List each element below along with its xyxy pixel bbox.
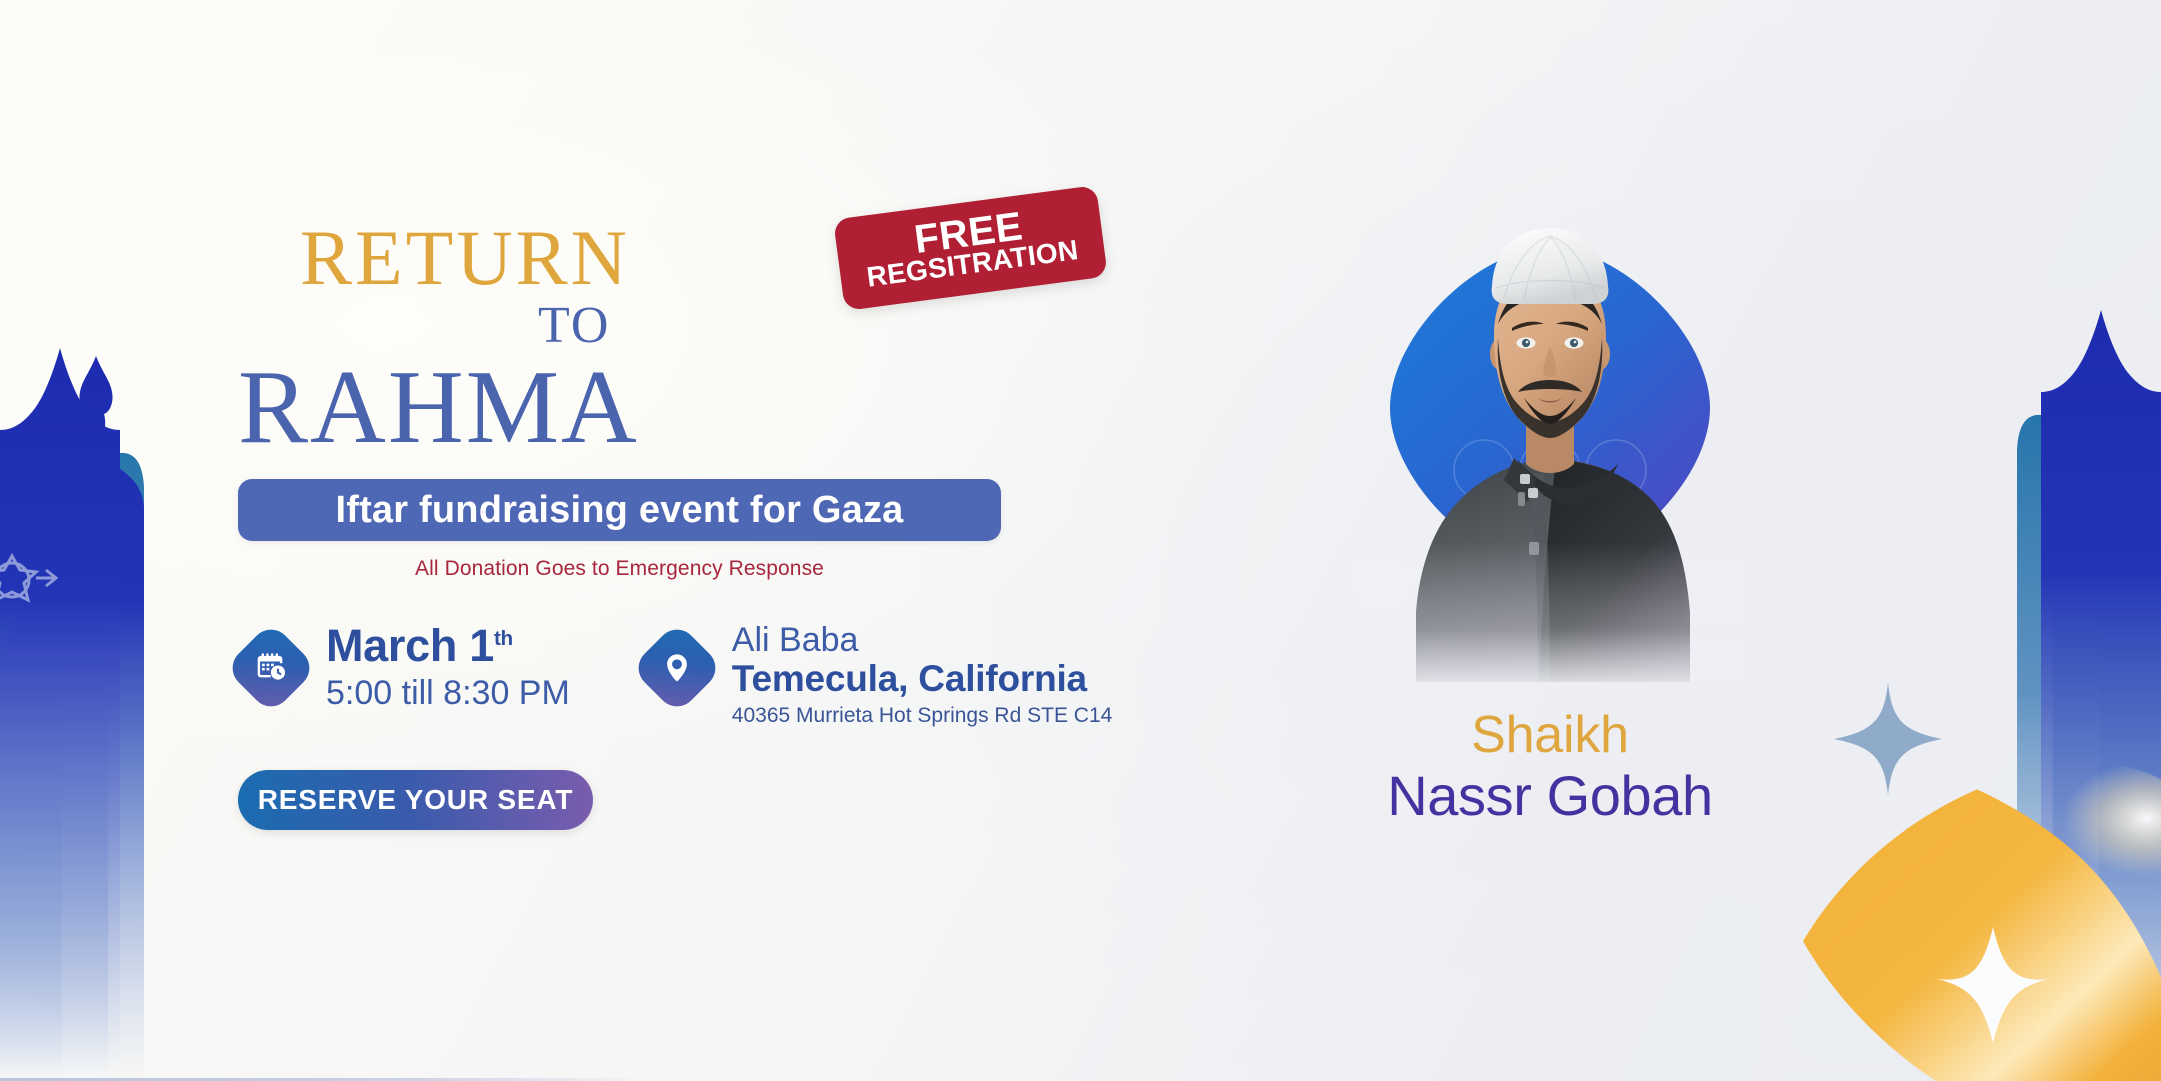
event-date-value: March 1	[326, 620, 494, 671]
crescent-moon-icon	[1731, 731, 2161, 1081]
map-pin-icon	[630, 622, 723, 715]
calendar-clock-icon	[224, 622, 317, 715]
venue-city: Temecula, California	[732, 658, 1113, 699]
event-date: March 1th	[326, 623, 570, 668]
speaker-portrait	[1354, 212, 1746, 682]
event-location-item: Ali Baba Temecula, California 40365 Murr…	[644, 623, 1113, 729]
event-subtitle-text: Iftar fundraising event for Gaza	[335, 489, 903, 532]
four-point-star-icon	[1826, 679, 1946, 799]
reserve-your-seat-button[interactable]: RESERVE YOUR SEAT	[238, 770, 593, 830]
donation-note: All Donation Goes to Emergency Response	[238, 557, 1001, 581]
event-subtitle-banner: Iftar fundraising event for Gaza	[238, 479, 1001, 541]
event-date-text: March 1th 5:00 till 8:30 PM	[326, 623, 570, 715]
title-line-return: Return	[300, 196, 1298, 299]
event-details-row: March 1th 5:00 till 8:30 PM Ali Baba Tem…	[238, 623, 1298, 729]
event-date-item: March 1th 5:00 till 8:30 PM	[238, 623, 570, 715]
reserve-your-seat-label: RESERVE YOUR SEAT	[258, 784, 573, 816]
event-title-block: Return To Rahma FREE REGSITRATION	[238, 196, 1298, 457]
title-line-rahma: Rahma	[238, 328, 1298, 457]
event-banner: Return To Rahma FREE REGSITRATION Iftar …	[0, 0, 2161, 1081]
venue-address: 40365 Murrieta Hot Springs Rd STE C14	[732, 702, 1113, 729]
event-time: 5:00 till 8:30 PM	[326, 672, 570, 715]
speaker-name: Nassr Gobah	[1340, 765, 1760, 828]
event-info-column: Return To Rahma FREE REGSITRATION Iftar …	[238, 196, 1298, 830]
mosque-arch-decoration-right	[1861, 0, 2161, 1081]
speaker-block: Shaikh Nassr Gobah	[1340, 212, 1760, 827]
event-date-suffix: th	[494, 627, 513, 650]
speaker-role: Shaikh	[1340, 708, 1760, 763]
event-location-text: Ali Baba Temecula, California 40365 Murr…	[732, 623, 1113, 729]
venue-name: Ali Baba	[732, 623, 1113, 658]
